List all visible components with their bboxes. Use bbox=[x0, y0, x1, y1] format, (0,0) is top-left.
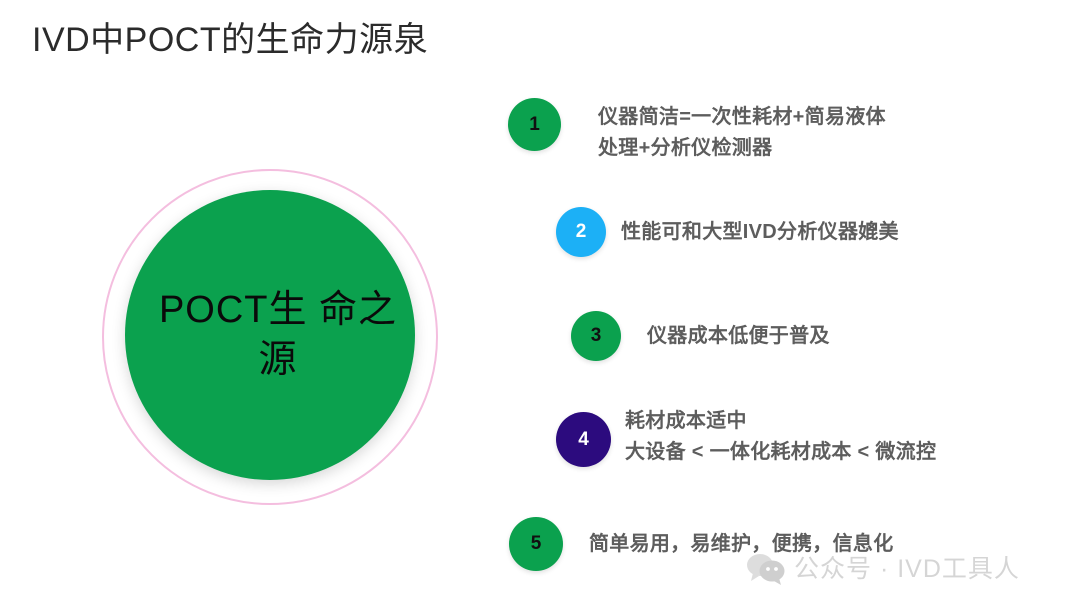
item-text-3: 仪器成本低便于普及 bbox=[647, 321, 830, 352]
list-item[interactable]: 4 耗材成本适中 大设备 < 一体化耗材成本 < 微流控 bbox=[556, 412, 936, 468]
item-text-1: 仪器简洁=一次性耗材+简易液体 处理+分析仪检测器 bbox=[598, 102, 886, 164]
hero-circle-label: POCT生 命之源 bbox=[125, 285, 415, 385]
item-number-badge-3: 3 bbox=[571, 311, 621, 361]
item-text-2: 性能可和大型IVD分析仪器媲美 bbox=[621, 217, 899, 248]
list-item[interactable]: 1 仪器简洁=一次性耗材+简易液体 处理+分析仪检测器 bbox=[508, 98, 886, 164]
item-number-badge-5: 5 bbox=[509, 517, 563, 571]
page-title: IVD中POCT的生命力源泉 bbox=[32, 18, 428, 62]
item-number-badge-1: 1 bbox=[508, 98, 561, 151]
slide-canvas: IVD中POCT的生命力源泉 POCT生 命之源 1 仪器简洁=一次性耗材+简易… bbox=[0, 0, 1080, 606]
list-item[interactable]: 5 简单易用，易维护，便携，信息化 bbox=[509, 517, 894, 571]
item-text-4: 耗材成本适中 大设备 < 一体化耗材成本 < 微流控 bbox=[625, 406, 936, 468]
hero-circle: POCT生 命之源 bbox=[125, 190, 415, 480]
item-number-badge-4: 4 bbox=[556, 412, 611, 467]
item-text-5: 简单易用，易维护，便携，信息化 bbox=[589, 529, 894, 560]
list-item[interactable]: 2 性能可和大型IVD分析仪器媲美 bbox=[556, 207, 899, 257]
item-number-badge-2: 2 bbox=[556, 207, 606, 257]
list-item[interactable]: 3 仪器成本低便于普及 bbox=[571, 311, 830, 361]
hero-circle-group: POCT生 命之源 bbox=[102, 169, 438, 505]
